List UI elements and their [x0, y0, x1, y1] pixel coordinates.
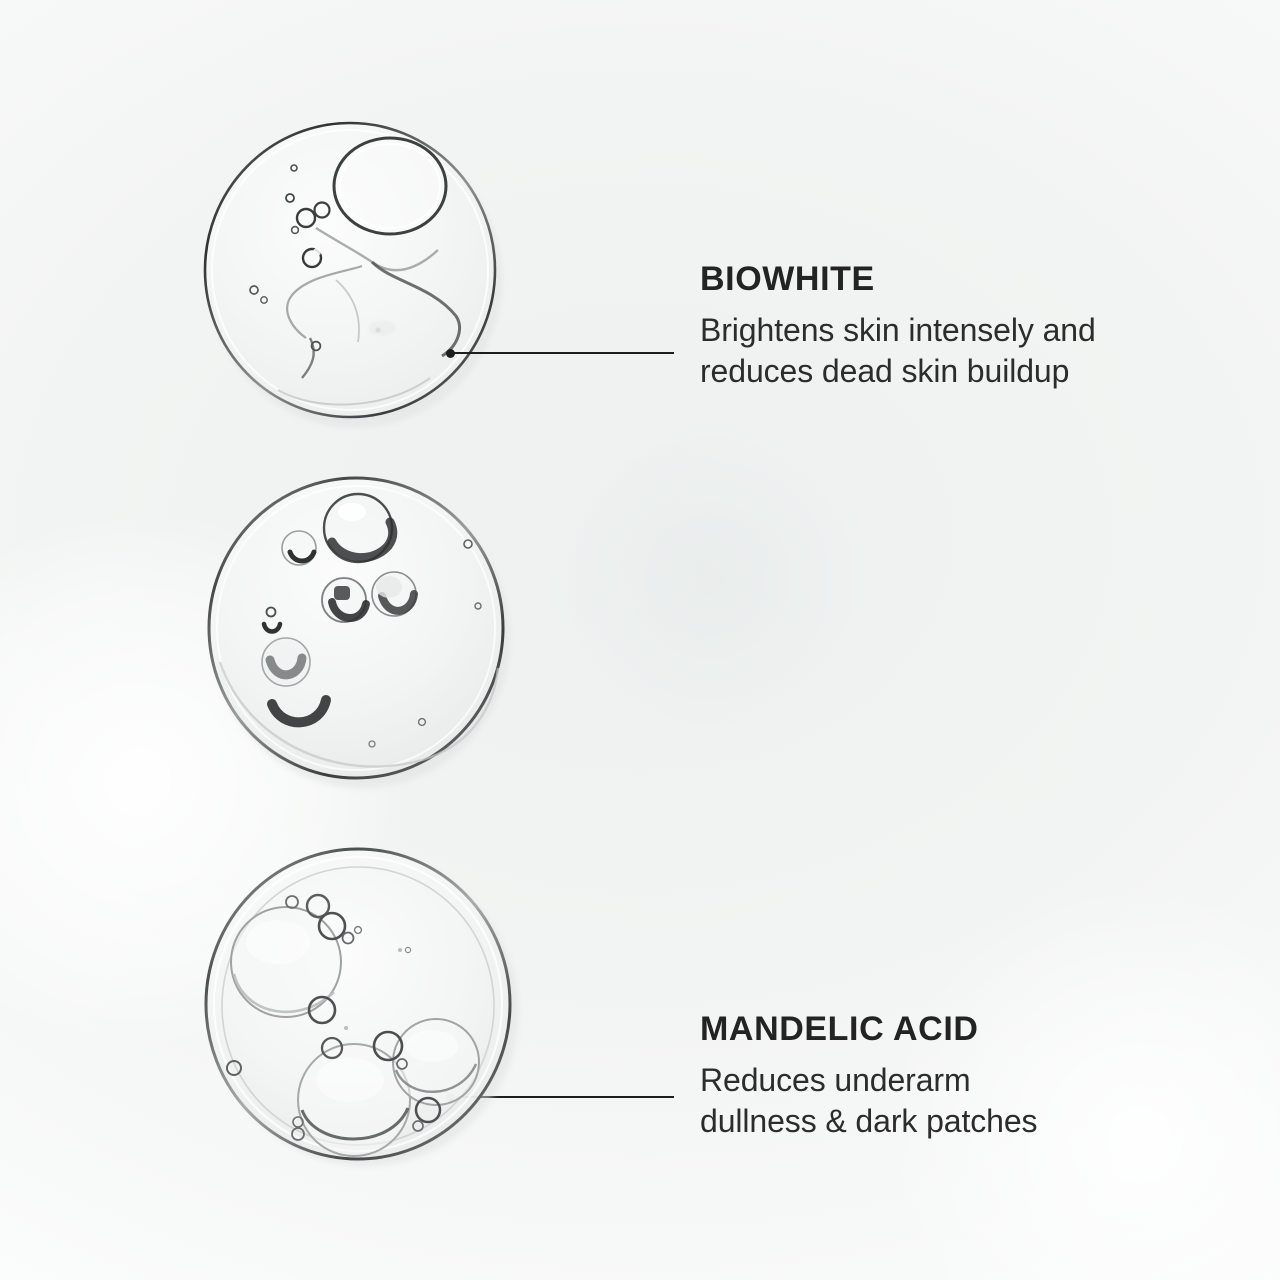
leader-line [452, 352, 674, 354]
gel-droplet-swatch-bioecolea [186, 842, 526, 1182]
gel-droplet-swatch-biowhite [186, 110, 516, 430]
gel-droplet-illustration [186, 842, 526, 1182]
gel-droplet-illustration [186, 110, 516, 430]
feature-text-biowhite: BIOWHITE Brightens skin intensely and re… [700, 262, 1240, 393]
gel-droplet-illustration [186, 472, 516, 797]
feature-row-bioecolea: BIOECOLEA Balances the skin’s microbial … [0, 842, 1280, 1182]
feature-description: Brightens skin intensely and reduces dea… [700, 310, 1240, 393]
feature-row-biowhite: BIOWHITE Brightens skin intensely and re… [0, 110, 1280, 430]
gel-droplet-swatch-mandelic-acid [186, 472, 516, 797]
infographic-page: BIOWHITE Brightens skin intensely and re… [0, 0, 1280, 1280]
feature-heading: BIOWHITE [700, 262, 1240, 298]
description-line: Brightens skin intensely and [700, 310, 1240, 352]
feature-row-mandelic-acid: MANDELIC ACID Reduces underarm dullness … [0, 472, 1280, 797]
callout-leader-line-biowhite [446, 346, 674, 360]
description-line: reduces dead skin buildup [700, 351, 1240, 393]
